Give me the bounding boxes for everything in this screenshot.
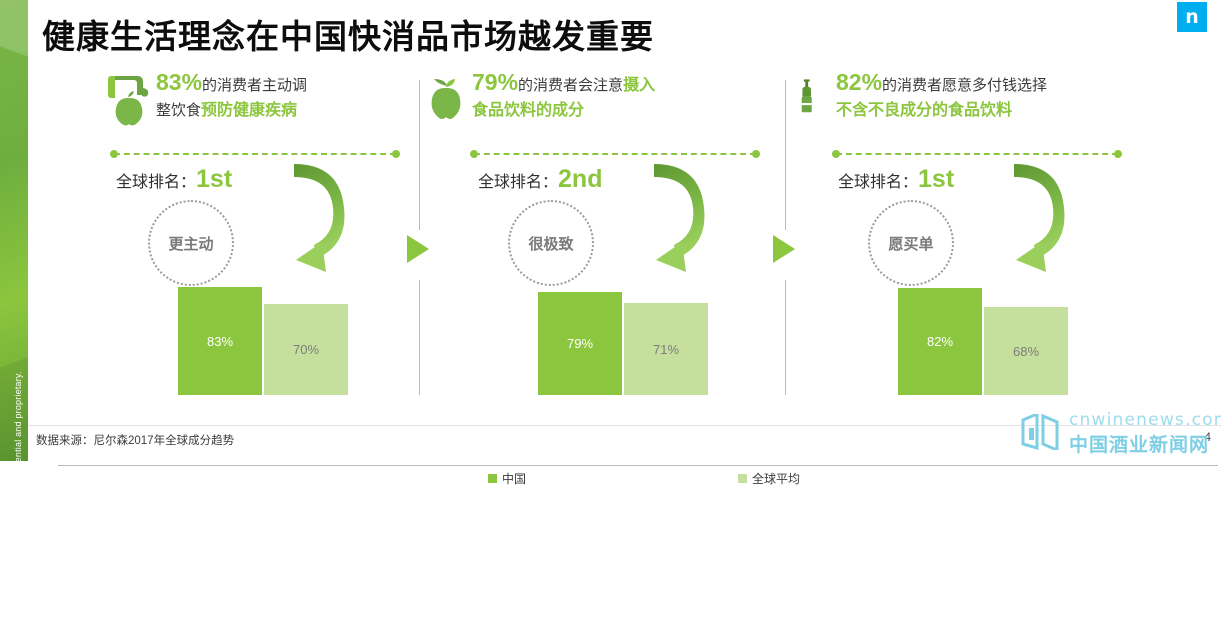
legend-item-china: 中国: [488, 470, 526, 487]
panel-3-headline-text: 82%的消费者愿意多付钱选择 不含不良成分的食品饮料: [836, 70, 1142, 123]
chart-baseline-axis: [58, 465, 1218, 466]
page-title: 健康生活理念在中国快消品市场越发重要: [42, 10, 654, 58]
panel-2-rank-value: 2nd: [558, 165, 602, 193]
panel-2-percent: 79%: [472, 69, 518, 95]
watermark: cnwinenews.com 中国酒业新闻网: [1009, 408, 1209, 456]
panel-3: 82%的消费者愿意多付钱选择 不含不良成分的食品饮料 全球排名：1st 愿买单: [786, 70, 1142, 395]
rule-line: [114, 153, 396, 155]
rule-dot-right: [392, 150, 400, 158]
legend-swatch-global: [738, 474, 747, 483]
panel-1-curved-arrow-icon: [288, 156, 368, 276]
panel-1-percent: 83%: [156, 69, 202, 95]
legend-label-china: 中国: [502, 472, 526, 486]
panel-1-badge-label: 更主动: [168, 233, 213, 254]
panel-2-headline: 79%的消费者会注意摄入 食品饮料的成分: [420, 70, 776, 142]
panel-2-bar-global-label: 71%: [653, 342, 679, 357]
chart-legend: 中国 全球平均: [58, 470, 1221, 490]
copyright-text: © 2017 The Nielsen Company. Confidential…: [8, 330, 28, 620]
legend-swatch-china: [488, 474, 497, 483]
panel-1-bar-china: 83%: [178, 287, 262, 395]
panel-1-bars: 83% 70%: [178, 265, 356, 395]
watermark-logo-icon: [1021, 414, 1061, 450]
legend-item-global: 全球平均: [738, 470, 800, 487]
rule-line: [474, 153, 756, 155]
book-apple-icon: [108, 74, 150, 126]
panel-1-highlight: 预防健康疾病: [201, 102, 297, 119]
panel-2-headline-text: 79%的消费者会注意摄入 食品饮料的成分: [472, 70, 772, 123]
panel-3-plain-1: 的消费者愿意多付钱选择: [882, 77, 1047, 94]
legend-label-global: 全球平均: [752, 472, 800, 486]
panel-3-rank-label: 全球排名：: [838, 174, 918, 191]
panel-1-bar-global: 70%: [264, 304, 348, 395]
rule-dot-right: [752, 150, 760, 158]
source-note: 数据来源：尼尔森2017年全球成分趋势: [36, 432, 234, 448]
panel-2-bar-global: 71%: [624, 303, 708, 395]
panel-1-bar-global-label: 70%: [293, 342, 319, 357]
panel-2-plain-1: 的消费者会注意: [518, 77, 623, 94]
nielsen-logo-icon: n: [1177, 2, 1207, 32]
watermark-name: 中国酒业新闻网: [1069, 430, 1209, 457]
panel-2-bar-china-label: 79%: [567, 336, 593, 351]
bottle-icon: [796, 72, 838, 124]
panel-1-rank-value: 1st: [196, 165, 232, 193]
panel-1-headline: 83%的消费者主动调 整饮食预防健康疾病: [58, 70, 414, 142]
panel-3-bar-global-label: 68%: [1013, 344, 1039, 359]
panel-3-headline: 82%的消费者愿意多付钱选择 不含不良成分的食品饮料: [786, 70, 1142, 142]
slide-root: © 2017 The Nielsen Company. Confidential…: [0, 0, 1221, 461]
panel-1-headline-text: 83%的消费者主动调 整饮食预防健康疾病: [156, 70, 414, 123]
panel-2: 79%的消费者会注意摄入 食品饮料的成分 全球排名：2nd 很极致: [420, 70, 776, 395]
panel-2-rank-label: 全球排名：: [478, 174, 558, 191]
nielsen-logo-letter: n: [1177, 2, 1207, 32]
panel-2-badge-label: 很极致: [528, 233, 573, 254]
panel-3-ranking: 全球排名：1st: [838, 165, 954, 194]
panel-1: 83%的消费者主动调 整饮食预防健康疾病 全球排名：1st 更主动: [58, 70, 414, 395]
panel-1-plain-1: 的消费者主动调: [202, 77, 307, 94]
panel-2-bar-china: 79%: [538, 292, 622, 395]
panels-container: 83%的消费者主动调 整饮食预防健康疾病 全球排名：1st 更主动: [58, 70, 1178, 395]
panel-1-rank-label: 全球排名：: [116, 174, 196, 191]
watermark-domain: cnwinenews.com: [1069, 410, 1221, 430]
panel-2-ranking: 全球排名：2nd: [478, 165, 602, 194]
panel-3-rank-value: 1st: [918, 165, 954, 193]
rule-dot-right: [1114, 150, 1122, 158]
panel-2-curved-arrow-icon: [648, 156, 728, 276]
panel-3-bar-china-label: 82%: [927, 334, 953, 349]
panel-3-highlight: 不含不良成分的食品饮料: [836, 102, 1012, 119]
panel-3-bar-global: 68%: [984, 307, 1068, 395]
panel-3-badge-label: 愿买单: [888, 233, 933, 254]
panel-3-curved-arrow-icon: [1008, 156, 1088, 276]
panel-3-bar-china: 82%: [898, 288, 982, 395]
apple-icon: [426, 74, 468, 126]
panel-3-percent: 82%: [836, 69, 882, 95]
panel-2-bars: 79% 71%: [538, 265, 716, 395]
panel-2-highlight: 食品饮料的成分: [472, 102, 584, 119]
panel-2-highlight-inline: 摄入: [623, 77, 655, 94]
rule-line: [836, 153, 1118, 155]
panel-3-bars: 82% 68%: [898, 265, 1076, 395]
panel-1-ranking: 全球排名：1st: [116, 165, 232, 194]
panel-1-bar-china-label: 83%: [207, 334, 233, 349]
panel-1-plain-2: 整饮食: [156, 102, 201, 119]
